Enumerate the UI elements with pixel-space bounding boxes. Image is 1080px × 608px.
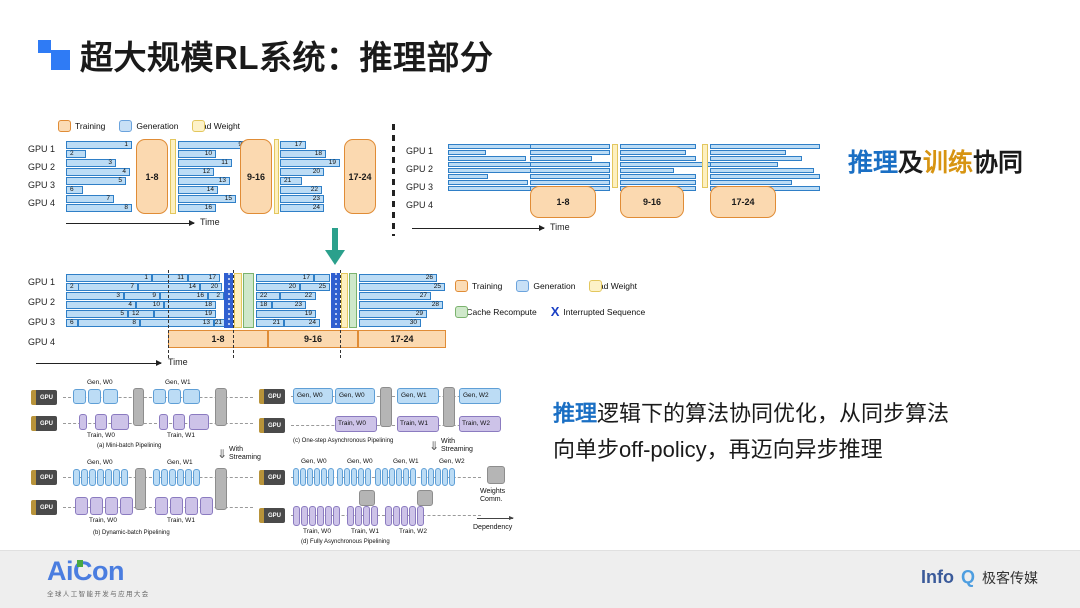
subfigure-caption-d: (d) Fully Asynchronous Pipelining <box>301 539 390 545</box>
gpu-chip-icon: GPU <box>31 416 57 431</box>
legend-middle-row1: Training Generation Load Weight <box>455 280 646 292</box>
diagram-synchronous-pipeline: Training Generation Load Weight GPU 1 GP… <box>28 120 388 238</box>
dependency-arrow-icon <box>477 518 513 519</box>
subfigure-caption-c: (c) One-step Asynchronous Pipelining <box>293 438 393 444</box>
training-block: 1-8 <box>136 139 168 214</box>
slide: 超大规模RL系统：推理部分 Training Generation Load W… <box>0 0 1080 608</box>
weights-comm-label: WeightsComm. <box>480 488 505 505</box>
load-weight-strip <box>274 139 279 214</box>
training-swatch-icon <box>455 280 468 292</box>
gen-label: Gen, W2 <box>463 392 489 399</box>
aicon-wordmark: AiCon <box>47 558 150 585</box>
gen-label: Gen, W1 <box>165 379 191 386</box>
generation-swatch-icon <box>516 280 529 292</box>
diagram-interrupted-pipeline: GPU 1 GPU 2 GPU 3 GPU 4 1 2 3 4 5 6 7 8 … <box>28 270 448 375</box>
load-weight-strip <box>341 273 348 328</box>
gpu-row-label: GPU 1 <box>406 146 433 156</box>
training-block: 9-16 <box>268 330 358 348</box>
diagram-colocated-pipeline: GPU 1 GPU 2 GPU 3 GPU 4 1-8 9-16 <box>406 140 826 238</box>
side-text-2-highlight: 推理 <box>553 401 597 426</box>
side-text-2-line2: 向单步off-policy，再迈向异步推理 <box>553 437 883 462</box>
gpu-chip-icon: GPU <box>259 418 285 433</box>
training-swatch-icon <box>58 120 71 132</box>
legend-interrupted-label: Interrupted Sequence <box>563 307 645 317</box>
train-label: Train, W0 <box>338 420 366 427</box>
side-text-inference-training: 推理及训练协同 <box>848 143 1023 179</box>
train-label: Train, W1 <box>351 528 379 535</box>
generation-swatch-icon <box>119 120 132 132</box>
time-axis <box>36 363 161 364</box>
streaming-arrow-icon: ⇓ <box>429 440 439 452</box>
training-block: 9-16 <box>240 139 272 214</box>
gpu-row-label: GPU 3 <box>28 180 55 190</box>
training-block: 1-8 <box>530 186 596 218</box>
legend-top: Training Generation Load Weight <box>58 120 249 132</box>
weights-comm-swatch-icon <box>487 466 505 484</box>
time-axis-label: Time <box>200 217 220 227</box>
interrupt-column <box>331 273 340 328</box>
side-text-1-gold: 训练 <box>923 149 973 177</box>
load-weight-swatch-icon <box>192 120 205 132</box>
time-axis-label: Time <box>168 357 188 367</box>
gpu-row-label: GPU 1 <box>28 144 55 154</box>
dependency-label: Dependency <box>473 524 512 532</box>
train-label: Train, W1 <box>167 517 195 524</box>
phase-divider <box>168 270 169 358</box>
gpu-row-label: GPU 2 <box>28 297 55 307</box>
gpu-row-label: GPU 2 <box>406 164 433 174</box>
gpu-row-label: GPU 2 <box>28 162 55 172</box>
gpu-row-label: GPU 4 <box>406 200 433 210</box>
infoq-logo: InfoQ 极客传媒 <box>921 568 1038 586</box>
load-weight-swatch-icon <box>589 280 602 292</box>
gen-label: Gen, W0 <box>339 392 365 399</box>
slide-header: 超大规模RL系统：推理部分 <box>0 0 1080 100</box>
gen-label: Gen, W1 <box>401 392 427 399</box>
training-block: 9-16 <box>620 186 684 218</box>
phase-divider <box>340 270 341 358</box>
gpu-chip-icon: GPU <box>31 390 57 405</box>
training-block: 17-24 <box>358 330 446 348</box>
gen-label: Gen, W1 <box>167 459 193 466</box>
diagram-divider <box>392 124 395 236</box>
side-text-algorithm-cooperation: 推理逻辑下的算法协同优化，从同步算法 向单步off-policy，再迈向异步推理 <box>553 396 1053 467</box>
flow-arrow-down-icon <box>322 228 348 271</box>
gpu-row-label: GPU 4 <box>28 198 55 208</box>
time-axis <box>66 223 194 224</box>
gen-label: Gen, W0 <box>87 379 113 386</box>
streaming-arrow-icon: ⇓ <box>217 448 227 460</box>
legend-training-label: Training <box>472 281 502 291</box>
gpu-row-label: GPU 3 <box>28 317 55 327</box>
blue-squares-logo-icon <box>38 40 70 70</box>
streaming-note-left: WithStreaming <box>229 446 261 463</box>
gpu-chip-icon: GPU <box>259 389 285 404</box>
gpu-row-label: GPU 4 <box>28 337 55 347</box>
phase-divider <box>233 270 234 358</box>
gpu-chip-icon: GPU <box>259 470 285 485</box>
side-text-1-mid: 及 <box>898 149 923 177</box>
page-title: 超大规模RL系统：推理部分 <box>80 31 494 79</box>
train-label: Train, W1 <box>400 420 428 427</box>
gen-label: Gen, W0 <box>301 458 327 465</box>
time-axis <box>412 228 544 229</box>
gpu-chip-icon: GPU <box>31 500 57 515</box>
paper-figure-pipelining-variants: GPU GPU Gen, W0 Gen, W1 Train, W0 Train,… <box>25 378 525 550</box>
load-weight-strip <box>170 139 176 214</box>
aicon-subtitle: 全球人工智能开发与应用大会 <box>47 588 150 598</box>
legend-generation-label: Generation <box>136 121 178 131</box>
kvcache-swatch-icon <box>455 306 468 318</box>
legend-training-label: Training <box>75 121 105 131</box>
load-weight-strip <box>234 273 242 328</box>
legend-generation-label: Generation <box>533 281 575 291</box>
gpu-chip-icon: GPU <box>31 470 57 485</box>
aicon-accent-icon <box>77 560 83 567</box>
train-label: Train, W0 <box>87 432 115 439</box>
load-weight-strip <box>702 144 708 188</box>
training-block: 17-24 <box>344 139 376 214</box>
training-block: 1-8 <box>168 330 268 348</box>
train-label: Train, W0 <box>89 517 117 524</box>
legend-middle-row2: KVCache Recompute XInterrupted Sequence <box>455 305 654 318</box>
gen-label: Gen, W1 <box>393 458 419 465</box>
aicon-logo: AiCon 全球人工智能开发与应用大会 <box>47 558 150 598</box>
side-text-1-blue: 推理 <box>848 149 898 177</box>
kvcache-strip <box>243 273 254 328</box>
side-text-2-line1: 逻辑下的算法协同优化，从同步算法 <box>597 401 949 426</box>
train-label: Train, W2 <box>399 528 427 535</box>
gen-label: Gen, W0 <box>297 392 323 399</box>
interrupt-column <box>224 273 233 328</box>
side-text-1-tail: 协同 <box>973 149 1023 177</box>
infoq-q-text: Q <box>961 568 975 586</box>
time-axis-label: Time <box>550 222 570 232</box>
gen-label: Gen, W2 <box>439 458 465 465</box>
aicon-text: AiCon <box>47 556 124 586</box>
train-label: Train, W0 <box>303 528 331 535</box>
slide-footer <box>0 550 1080 608</box>
subfigure-caption-a: (a) Mini-batch Pipelining <box>97 443 161 449</box>
streaming-note-right: WithStreaming <box>441 438 473 455</box>
infoq-chinese-text: 极客传媒 <box>982 571 1038 585</box>
subfigure-caption-b: (b) Dynamic-batch Pipelining <box>93 530 170 536</box>
interrupted-sequence-x-icon: X <box>551 305 560 318</box>
gen-label: Gen, W0 <box>87 459 113 466</box>
load-weight-strip <box>612 144 618 188</box>
train-label: Train, W1 <box>167 432 195 439</box>
gen-label: Gen, W0 <box>347 458 373 465</box>
gpu-row-label: GPU 1 <box>28 277 55 287</box>
training-block: 17-24 <box>710 186 776 218</box>
infoq-info-text: Info <box>921 568 954 586</box>
gpu-row-label: GPU 3 <box>406 182 433 192</box>
gpu-chip-icon: GPU <box>259 508 285 523</box>
kvcache-strip <box>349 273 357 328</box>
train-label: Train, W2 <box>462 420 490 427</box>
